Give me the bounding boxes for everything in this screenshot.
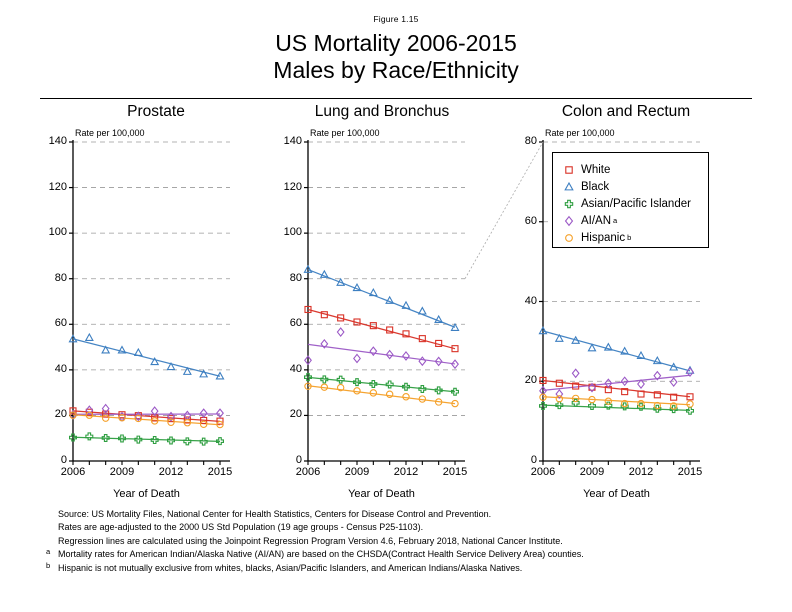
y-tick-label: 0 <box>21 454 67 466</box>
footnote-text: Regression lines are calculated using th… <box>58 536 563 546</box>
y-tick-label: 40 <box>21 363 67 375</box>
y-tick-label: 100 <box>21 226 67 238</box>
legend-footnote-marker: a <box>611 216 617 225</box>
footnote-text: Hispanic is not mutually exclusive from … <box>58 563 522 573</box>
x-tick-label: 2015 <box>425 466 485 478</box>
y-tick-label: 20 <box>491 374 537 386</box>
legend-item-hispanic[interactable]: Hispanicb <box>561 229 631 246</box>
legend-item-asian-pacific-islander[interactable]: Asian/Pacific Islander <box>561 195 691 212</box>
x-axis-label-1: Year of Death <box>47 488 247 500</box>
y-tick-label: 80 <box>21 272 67 284</box>
legend-label: Asian/Pacific Islander <box>577 198 691 210</box>
y-tick-label: 0 <box>491 454 537 466</box>
triangle-marker <box>561 180 577 194</box>
x-axis-label-3: Year of Death <box>517 488 717 500</box>
y-tick-label: 20 <box>256 408 302 420</box>
y-tick-label: 120 <box>256 181 302 193</box>
x-axis-label-2: Year of Death <box>282 488 482 500</box>
footnotes: Source: US Mortality Files, National Cen… <box>46 508 746 575</box>
footnote-line-3: Regression lines are calculated using th… <box>46 535 746 548</box>
footnote-line-2: Rates are age-adjusted to the 2000 US St… <box>46 521 746 534</box>
y-tick-label: 60 <box>491 215 537 227</box>
square-marker <box>561 163 577 177</box>
legend-footnote-marker: b <box>625 233 631 242</box>
legend-item-white[interactable]: White <box>561 161 610 178</box>
legend-item-black[interactable]: Black <box>561 178 609 195</box>
footnote-text: Source: US Mortality Files, National Cen… <box>58 509 491 519</box>
cross-marker <box>561 197 577 211</box>
legend: WhiteBlackAsian/Pacific IslanderAI/ANaHi… <box>552 152 709 248</box>
circle-marker <box>561 231 577 245</box>
y-tick-label: 80 <box>256 272 302 284</box>
panel-title-3: Colon and Rectum <box>476 103 776 121</box>
y-tick-label: 120 <box>21 181 67 193</box>
y-tick-label: 60 <box>21 317 67 329</box>
y-tick-label: 60 <box>256 317 302 329</box>
diamond-marker <box>561 214 577 228</box>
legend-label: Hispanic <box>577 232 625 244</box>
y-axis-unit-label-3: Rate per 100,000 <box>545 128 615 138</box>
y-axis-unit-label-1: Rate per 100,000 <box>75 128 145 138</box>
footnote-marker: a <box>46 545 50 558</box>
footnote-text: Mortality rates for American Indian/Alas… <box>58 549 584 559</box>
y-tick-label: 40 <box>491 295 537 307</box>
y-tick-label: 0 <box>256 454 302 466</box>
footnote-line-5: bHispanic is not mutually exclusive from… <box>46 562 746 575</box>
legend-label: Black <box>577 181 609 193</box>
x-tick-label: 2015 <box>190 466 250 478</box>
legend-label: AI/AN <box>577 215 611 227</box>
legend-item-ai-an[interactable]: AI/ANa <box>561 212 617 229</box>
x-tick-label: 2015 <box>660 466 720 478</box>
legend-label: White <box>577 164 610 176</box>
footnote-line-4: aMortality rates for American Indian/Ala… <box>46 548 746 561</box>
footnote-text: Rates are age-adjusted to the 2000 US St… <box>58 522 423 532</box>
y-tick-label: 140 <box>21 135 67 147</box>
y-tick-label: 100 <box>256 226 302 238</box>
y-tick-label: 40 <box>256 363 302 375</box>
y-tick-label: 140 <box>256 135 302 147</box>
y-tick-label: 20 <box>21 408 67 420</box>
footnote-line-1: Source: US Mortality Files, National Cen… <box>46 508 746 521</box>
y-tick-label: 80 <box>491 135 537 147</box>
footnote-marker: b <box>46 559 50 572</box>
y-axis-unit-label-2: Rate per 100,000 <box>310 128 380 138</box>
